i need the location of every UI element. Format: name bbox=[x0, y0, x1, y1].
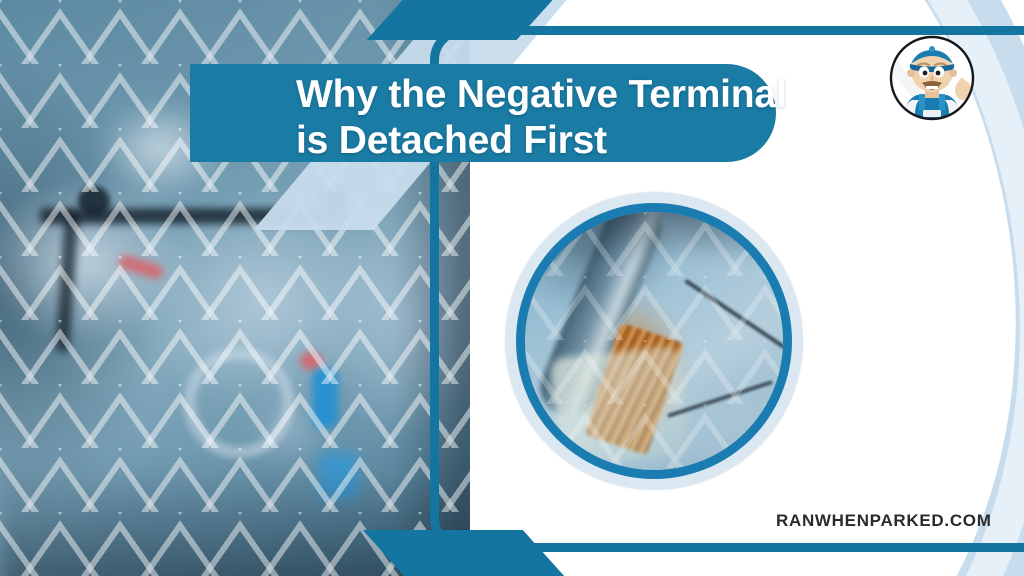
circle-inset-blue-ring bbox=[516, 203, 792, 479]
inset-glass-highlight bbox=[550, 346, 691, 469]
circle-inset-outer-ring bbox=[505, 192, 803, 490]
infographic-canvas: Why the Negative Terminal is Detached Fi… bbox=[0, 0, 1024, 576]
mechanic-mascot-icon bbox=[882, 28, 982, 128]
battery-post-left bbox=[78, 186, 110, 216]
site-url-text: RANWHENPARKED.COM bbox=[776, 511, 992, 531]
page-title: Why the Negative Terminal is Detached Fi… bbox=[296, 72, 796, 164]
mechanic-mascot-logo bbox=[882, 28, 982, 128]
inset-top-shadow bbox=[525, 212, 783, 262]
blue-cap-a bbox=[312, 368, 338, 428]
battery-ring-detail bbox=[184, 348, 294, 458]
battery-terminal-closeup-photo bbox=[525, 212, 783, 470]
